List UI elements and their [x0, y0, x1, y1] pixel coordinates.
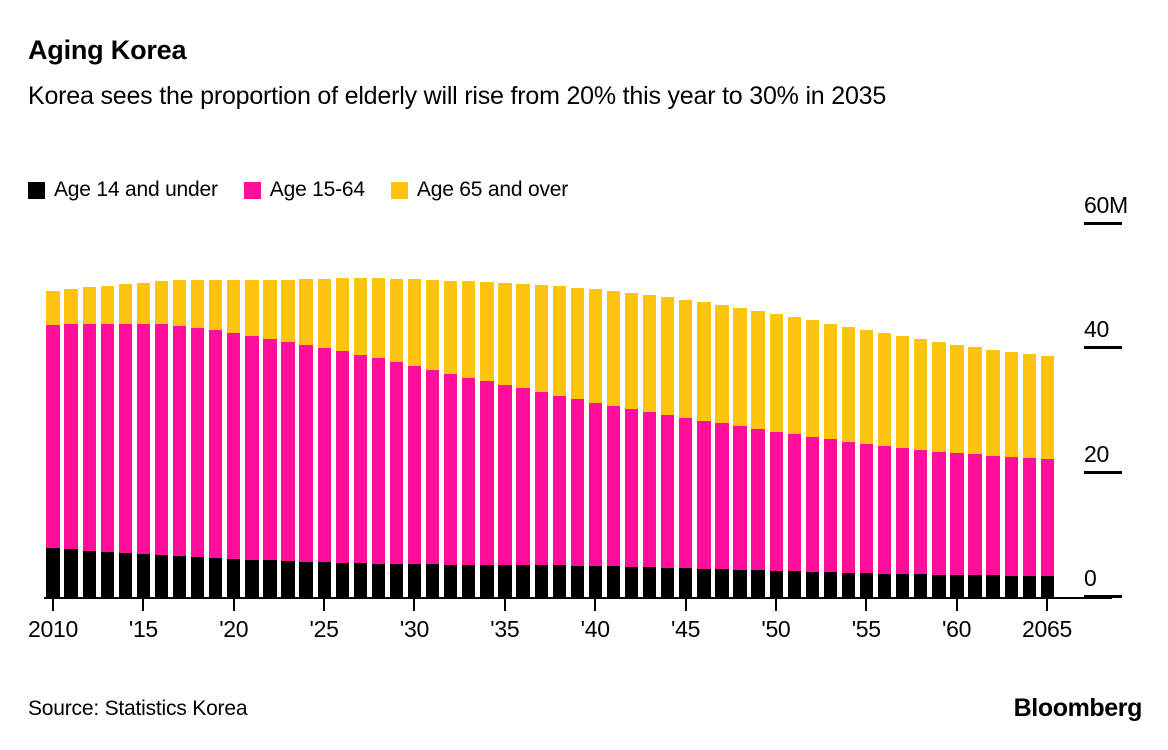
x-axis-tick-label: '35: [490, 616, 519, 643]
table-row[interactable]: [263, 225, 276, 598]
bar-segment-age15to64: [336, 351, 349, 563]
bar-segment-age15to64: [589, 403, 602, 566]
bar-segment-under14: [607, 566, 620, 598]
legend-label-over65: Age 65 and over: [417, 178, 568, 202]
x-axis-tick-label: 2010: [28, 616, 78, 643]
bar-segment-over65: [318, 279, 331, 348]
table-row[interactable]: [444, 225, 457, 598]
table-row[interactable]: [860, 225, 873, 598]
bar-segment-age15to64: [697, 421, 710, 569]
table-row[interactable]: [625, 225, 638, 598]
bar-segment-under14: [625, 567, 638, 598]
bar-segment-age15to64: [318, 348, 331, 563]
bar-segment-under14: [878, 574, 891, 598]
x-axis-tick: [52, 599, 54, 611]
table-row[interactable]: [1041, 225, 1054, 598]
x-axis-tick-label: '45: [671, 616, 700, 643]
bar-segment-age15to64: [553, 396, 566, 566]
bar-segment-under14: [263, 560, 276, 598]
legend-swatch-under14: [28, 182, 45, 199]
bar-segment-over65: [860, 330, 873, 444]
legend-swatch-over65: [391, 182, 408, 199]
bar-segment-age15to64: [209, 330, 222, 557]
bar-segment-over65: [1041, 356, 1054, 458]
bar-segment-age15to64: [679, 418, 692, 568]
bar-segment-under14: [643, 567, 656, 598]
table-row[interactable]: [607, 225, 620, 598]
bar-segment-under14: [227, 559, 240, 598]
x-axis-labels: 2010'15'20'25'30'35'40'45'50'55'602065: [0, 616, 1168, 650]
page-title: Aging Korea: [28, 36, 186, 66]
x-axis-tick-label: '20: [219, 616, 248, 643]
bar-segment-age15to64: [516, 388, 529, 564]
bar-segment-over65: [715, 305, 728, 423]
table-row[interactable]: [245, 225, 258, 598]
table-row[interactable]: [46, 225, 59, 598]
bar-segment-under14: [299, 562, 312, 598]
x-axis-tick: [413, 599, 415, 611]
bar-segment-age15to64: [498, 385, 511, 565]
y-axis-tick-label: 40: [1084, 316, 1109, 343]
bar-segment-under14: [173, 556, 186, 598]
bar-segment-over65: [444, 281, 457, 374]
bar-segment-under14: [336, 563, 349, 598]
y-axis-tick-group: 60M: [1062, 185, 1168, 225]
bar-segment-age15to64: [101, 324, 114, 552]
y-axis-tick-group: 20: [1062, 434, 1168, 474]
table-row[interactable]: [299, 225, 312, 598]
bar-segment-age15to64: [155, 324, 168, 555]
legend-item-over65[interactable]: Age 65 and over: [391, 178, 568, 202]
bar-segment-over65: [788, 317, 801, 434]
bar-segment-age15to64: [643, 412, 656, 567]
table-row[interactable]: [535, 225, 548, 598]
bar-segment-age15to64: [191, 328, 204, 557]
bar-segment-over65: [119, 284, 132, 324]
bar-segment-age15to64: [1023, 458, 1036, 576]
table-row[interactable]: [498, 225, 511, 598]
bar-segment-age15to64: [408, 366, 421, 564]
bar-segment-under14: [137, 554, 150, 598]
bar-segment-over65: [336, 278, 349, 351]
bar-segment-under14: [119, 553, 132, 598]
bar-segment-under14: [462, 565, 475, 598]
bar-segment-age15to64: [661, 415, 674, 568]
bar-segment-over65: [390, 279, 403, 362]
table-row[interactable]: [878, 225, 891, 598]
bar-segment-under14: [64, 549, 77, 598]
table-row[interactable]: [932, 225, 945, 598]
x-axis-tick: [956, 599, 958, 611]
x-axis-tick-label: '30: [400, 616, 429, 643]
bar-segment-over65: [968, 347, 981, 454]
y-axis-tick-label: 0: [1084, 565, 1097, 592]
x-axis-tick: [233, 599, 235, 611]
bar-segment-over65: [824, 324, 837, 440]
bar-segment-age15to64: [426, 370, 439, 564]
x-axis-tick: [1046, 599, 1048, 611]
bar-segment-over65: [697, 302, 710, 420]
bar-segment-age15to64: [1005, 457, 1018, 576]
x-axis-tick-label: '50: [761, 616, 790, 643]
bar-segment-over65: [155, 281, 168, 324]
table-row[interactable]: [516, 225, 529, 598]
bar-segment-age15to64: [535, 392, 548, 565]
bar-segment-over65: [661, 297, 674, 414]
bar-segment-over65: [281, 280, 294, 342]
bar-segment-under14: [932, 575, 945, 598]
bar-segment-under14: [679, 568, 692, 598]
bar-segment-under14: [480, 565, 493, 598]
chart-page: Aging Korea Korea sees the proportion of…: [0, 0, 1168, 750]
bar-segment-under14: [1023, 576, 1036, 598]
bar-segment-age15to64: [788, 434, 801, 571]
source-note: Source: Statistics Korea: [28, 697, 247, 721]
footer-divider: [0, 668, 1168, 669]
bar-segment-over65: [571, 288, 584, 400]
x-axis-ticks: [44, 599, 1056, 611]
chart-legend: Age 14 and underAge 15-64Age 65 and over: [28, 178, 568, 202]
bar-segment-over65: [986, 350, 999, 456]
table-row[interactable]: [589, 225, 602, 598]
bar-segment-under14: [733, 570, 746, 598]
bar-segment-over65: [950, 345, 963, 453]
table-row[interactable]: [119, 225, 132, 598]
bar-segment-age15to64: [83, 324, 96, 551]
bar-segment-over65: [46, 291, 59, 325]
bar-segment-age15to64: [444, 374, 457, 565]
legend-item-under14[interactable]: Age 14 and under: [28, 178, 218, 202]
table-row[interactable]: [788, 225, 801, 598]
x-axis-tick: [504, 599, 506, 611]
bar-segment-over65: [209, 280, 222, 331]
bar-segment-over65: [462, 281, 475, 377]
bar-segment-over65: [354, 278, 367, 354]
bar-segment-age15to64: [173, 326, 186, 556]
bar-segment-over65: [806, 320, 819, 436]
bar-segment-over65: [245, 280, 258, 336]
bar-segment-under14: [408, 564, 421, 598]
table-row[interactable]: [354, 225, 367, 598]
bar-segment-age15to64: [950, 453, 963, 575]
legend-item-age15to64[interactable]: Age 15-64: [244, 178, 365, 202]
bar-segment-age15to64: [806, 437, 819, 572]
x-axis-tick: [594, 599, 596, 611]
bar-segment-over65: [878, 333, 891, 446]
table-row[interactable]: [914, 225, 927, 598]
legend-swatch-age15to64: [244, 182, 261, 199]
table-row[interactable]: [281, 225, 294, 598]
stacked-bar-series: [44, 225, 1056, 598]
bar-segment-over65: [372, 278, 385, 358]
bar-segment-over65: [173, 280, 186, 326]
bar-segment-age15to64: [227, 333, 240, 558]
bar-segment-age15to64: [480, 381, 493, 565]
table-row[interactable]: [842, 225, 855, 598]
table-row[interactable]: [191, 225, 204, 598]
bar-segment-under14: [245, 560, 258, 598]
table-row[interactable]: [336, 225, 349, 598]
x-axis-tick-label: '25: [310, 616, 339, 643]
table-row[interactable]: [137, 225, 150, 598]
bar-segment-over65: [842, 327, 855, 442]
bar-segment-under14: [444, 565, 457, 598]
bar-segment-under14: [372, 564, 385, 598]
legend-label-under14: Age 14 and under: [54, 178, 218, 202]
bar-segment-under14: [824, 572, 837, 598]
bar-segment-under14: [589, 566, 602, 598]
bloomberg-logo: Bloomberg: [1014, 694, 1142, 723]
y-axis-tick-group: 40: [1062, 309, 1168, 349]
x-axis-tick-label: '55: [852, 616, 881, 643]
bar-segment-under14: [516, 565, 529, 598]
bar-segment-under14: [914, 574, 927, 598]
bar-segment-over65: [770, 314, 783, 431]
table-row[interactable]: [408, 225, 421, 598]
x-axis-tick: [142, 599, 144, 611]
table-row[interactable]: [426, 225, 439, 598]
bar-segment-over65: [589, 289, 602, 402]
bar-segment-under14: [788, 571, 801, 598]
bar-segment-over65: [64, 289, 77, 324]
x-axis-tick-label: '40: [581, 616, 610, 643]
x-axis-tick: [685, 599, 687, 611]
bar-segment-over65: [408, 279, 421, 366]
bar-segment-age15to64: [842, 442, 855, 573]
table-row[interactable]: [896, 225, 909, 598]
table-row[interactable]: [824, 225, 837, 598]
y-axis-tick-label: 20: [1084, 441, 1109, 468]
bar-segment-under14: [553, 565, 566, 598]
bar-segment-over65: [607, 291, 620, 406]
bar-segment-under14: [281, 561, 294, 598]
y-axis-labels: 60M40200: [1062, 210, 1168, 610]
bar-segment-under14: [950, 575, 963, 598]
bar-segment-age15to64: [390, 362, 403, 564]
bar-segment-under14: [968, 575, 981, 598]
bar-segment-age15to64: [986, 456, 999, 576]
bar-segment-over65: [896, 336, 909, 448]
bar-segment-under14: [715, 569, 728, 598]
bar-segment-age15to64: [281, 342, 294, 561]
bar-segment-under14: [661, 568, 674, 598]
bar-segment-under14: [1005, 576, 1018, 598]
bar-segment-age15to64: [64, 324, 77, 549]
table-row[interactable]: [1023, 225, 1036, 598]
bar-segment-age15to64: [462, 378, 475, 565]
bar-segment-over65: [480, 282, 493, 381]
bar-segment-over65: [932, 342, 945, 451]
bar-segment-age15to64: [263, 339, 276, 560]
table-row[interactable]: [227, 225, 240, 598]
bar-segment-over65: [516, 284, 529, 389]
table-row[interactable]: [318, 225, 331, 598]
table-row[interactable]: [679, 225, 692, 598]
bar-segment-age15to64: [299, 345, 312, 562]
x-axis-tick-label: '60: [942, 616, 971, 643]
y-axis-tick-group: 0: [1062, 558, 1168, 598]
table-row[interactable]: [1005, 225, 1018, 598]
table-row[interactable]: [553, 225, 566, 598]
y-axis-tick-rule: [1084, 222, 1122, 225]
table-row[interactable]: [715, 225, 728, 598]
bar-segment-over65: [679, 300, 692, 418]
bar-segment-age15to64: [751, 429, 764, 570]
bar-segment-under14: [842, 573, 855, 598]
y-axis-tick-label: 60M: [1084, 192, 1128, 219]
bar-segment-over65: [498, 283, 511, 385]
bar-segment-under14: [83, 551, 96, 598]
bar-segment-age15to64: [607, 406, 620, 566]
bar-segment-over65: [137, 283, 150, 324]
x-axis-tick-label: '15: [129, 616, 158, 643]
bar-segment-under14: [751, 570, 764, 598]
bar-segment-over65: [643, 295, 656, 412]
bar-segment-under14: [535, 565, 548, 598]
y-axis-tick-rule: [1084, 471, 1122, 474]
bar-segment-under14: [1041, 576, 1054, 598]
bar-segment-over65: [914, 339, 927, 450]
bar-segment-over65: [1023, 354, 1036, 458]
y-axis-tick-rule: [1084, 595, 1122, 598]
bar-segment-under14: [770, 571, 783, 598]
table-row[interactable]: [173, 225, 186, 598]
bar-segment-under14: [191, 557, 204, 598]
table-row[interactable]: [697, 225, 710, 598]
bar-segment-under14: [860, 573, 873, 598]
bar-segment-age15to64: [896, 448, 909, 574]
table-row[interactable]: [83, 225, 96, 598]
bar-segment-under14: [390, 564, 403, 598]
table-row[interactable]: [986, 225, 999, 598]
bar-segment-over65: [625, 293, 638, 409]
bar-segment-under14: [354, 563, 367, 598]
bar-segment-under14: [318, 562, 331, 598]
bar-segment-over65: [299, 279, 312, 345]
table-row[interactable]: [661, 225, 674, 598]
table-row[interactable]: [751, 225, 764, 598]
bar-segment-over65: [553, 286, 566, 395]
bar-segment-age15to64: [571, 399, 584, 565]
bar-segment-age15to64: [245, 336, 258, 559]
bar-segment-under14: [806, 572, 819, 598]
bar-segment-over65: [191, 280, 204, 328]
table-row[interactable]: [101, 225, 114, 598]
bar-segment-over65: [263, 280, 276, 339]
bar-segment-under14: [896, 574, 909, 598]
table-row[interactable]: [643, 225, 656, 598]
bar-segment-age15to64: [824, 439, 837, 572]
table-row[interactable]: [571, 225, 584, 598]
bar-segment-over65: [751, 311, 764, 429]
bar-segment-under14: [571, 566, 584, 599]
table-row[interactable]: [462, 225, 475, 598]
bar-segment-under14: [155, 555, 168, 598]
bar-segment-age15to64: [932, 452, 945, 575]
bar-segment-over65: [1005, 352, 1018, 457]
bar-segment-over65: [83, 287, 96, 324]
bar-segment-over65: [535, 285, 548, 392]
x-axis-tick: [323, 599, 325, 611]
table-row[interactable]: [733, 225, 746, 598]
x-axis-tick-label: 2065: [1022, 616, 1072, 643]
bar-segment-age15to64: [715, 423, 728, 569]
table-row[interactable]: [806, 225, 819, 598]
bar-segment-age15to64: [46, 325, 59, 549]
table-row[interactable]: [480, 225, 493, 598]
table-row[interactable]: [390, 225, 403, 598]
bar-segment-under14: [498, 565, 511, 598]
table-row[interactable]: [155, 225, 168, 598]
bar-segment-under14: [209, 558, 222, 598]
bar-segment-under14: [101, 552, 114, 598]
table-row[interactable]: [209, 225, 222, 598]
bar-segment-age15to64: [354, 355, 367, 564]
bar-segment-under14: [46, 548, 59, 598]
bar-segment-age15to64: [137, 324, 150, 554]
bar-segment-over65: [227, 280, 240, 333]
x-axis-tick: [775, 599, 777, 611]
bar-segment-age15to64: [625, 409, 638, 567]
page-subtitle: Korea sees the proportion of elderly wil…: [28, 80, 1113, 113]
bar-segment-under14: [986, 575, 999, 598]
bar-segment-over65: [426, 280, 439, 370]
bar-segment-age15to64: [914, 450, 927, 574]
plot-area: [44, 225, 1056, 598]
bar-segment-age15to64: [860, 444, 873, 573]
bar-segment-over65: [733, 308, 746, 426]
table-row[interactable]: [64, 225, 77, 598]
bar-segment-age15to64: [878, 446, 891, 574]
bar-segment-age15to64: [119, 324, 132, 553]
bar-segment-age15to64: [372, 358, 385, 563]
bar-segment-age15to64: [733, 426, 746, 570]
x-axis-tick: [865, 599, 867, 611]
legend-label-age15to64: Age 15-64: [270, 178, 365, 202]
bar-segment-under14: [426, 564, 439, 598]
table-row[interactable]: [372, 225, 385, 598]
bar-segment-age15to64: [1041, 459, 1054, 577]
bar-segment-age15to64: [770, 432, 783, 571]
bar-segment-over65: [101, 286, 114, 324]
table-row[interactable]: [950, 225, 963, 598]
bar-segment-age15to64: [968, 454, 981, 575]
table-row[interactable]: [968, 225, 981, 598]
table-row[interactable]: [770, 225, 783, 598]
bar-segment-under14: [697, 569, 710, 598]
y-axis-tick-rule: [1084, 346, 1122, 349]
